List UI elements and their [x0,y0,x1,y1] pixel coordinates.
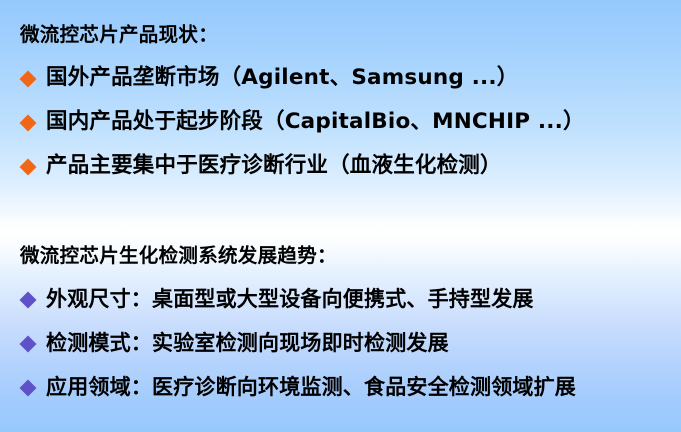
bullet-text: 检测模式：实验室检测向现场即时检测发展 [46,330,449,356]
diamond-bullet-icon [20,292,37,309]
bullet-item: 国外产品垄断市场（Agilent、Samsung ...） [22,56,681,100]
bullet-item: 应用领域：医疗诊断向环境监测、食品安全检测领域扩展 [22,365,681,409]
diamond-bullet-icon [20,336,37,353]
bullet-item: 外观尺寸：桌面型或大型设备向便携式、手持型发展 [22,277,681,321]
bullet-text: 国外产品垄断市场（Agilent、Samsung ...） [46,65,518,91]
bullet-item: 产品主要集中于医疗诊断行业（血液生化检测） [22,144,681,188]
bullet-item: 国内产品处于起步阶段（CapitalBio、MNCHIP ...） [22,100,681,144]
bullet-text: 国内产品处于起步阶段（CapitalBio、MNCHIP ...） [46,109,585,135]
presentation-slide: 微流控芯片产品现状： 国外产品垄断市场（Agilent、Samsung ...）… [0,0,681,432]
section-heading-current-status: 微流控芯片产品现状： [20,20,681,50]
section-heading-development-trends: 微流控芯片生化检测系统发展趋势： [20,241,681,271]
section-current-status: 微流控芯片产品现状： 国外产品垄断市场（Agilent、Samsung ...）… [0,20,681,188]
bullet-item: 检测模式：实验室检测向现场即时检测发展 [22,321,681,365]
bullet-text: 产品主要集中于医疗诊断行业（血液生化检测） [46,153,502,179]
bullet-text: 外观尺寸：桌面型或大型设备向便携式、手持型发展 [46,286,534,312]
diamond-bullet-icon [20,159,37,176]
bullet-text: 应用领域：医疗诊断向环境监测、食品安全检测领域扩展 [46,374,576,400]
diamond-bullet-icon [20,380,37,397]
diamond-bullet-icon [20,115,37,132]
diamond-bullet-icon [20,71,37,88]
section-development-trends: 微流控芯片生化检测系统发展趋势： 外观尺寸：桌面型或大型设备向便携式、手持型发展… [0,241,681,409]
